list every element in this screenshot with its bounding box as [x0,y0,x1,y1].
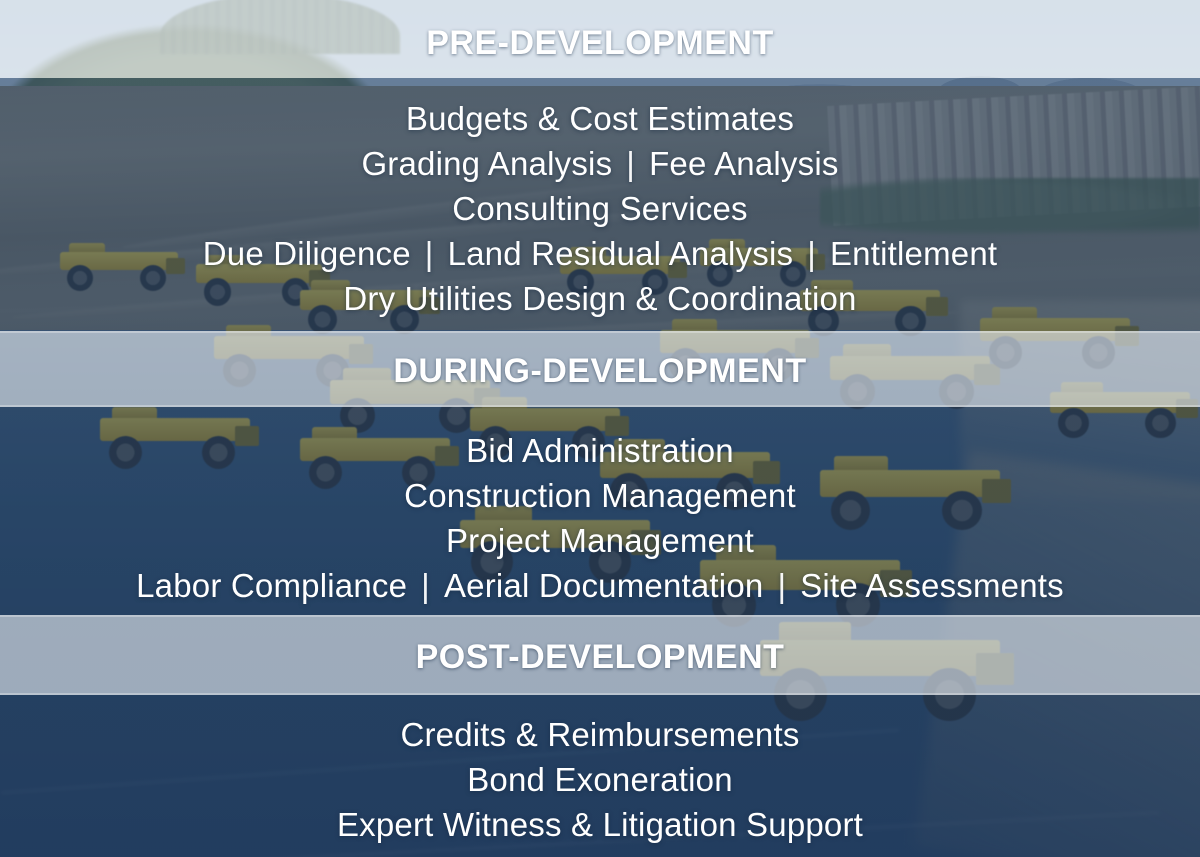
separator-icon: | [407,563,444,608]
service-item: Bid Administration [466,432,734,469]
poster-content: PRE-DEVELOPMENT Budgets & Cost Estimates… [0,0,1200,857]
service-line: Due Diligence|Land Residual Analysis|Ent… [0,231,1200,276]
service-line: Consulting Services [0,186,1200,231]
service-item: Dry Utilities Design & Coordination [343,280,856,317]
service-item: Project Management [446,522,754,559]
service-item: Labor Compliance [136,567,407,604]
service-item: Grading Analysis [361,145,612,182]
separator-icon: | [763,563,800,608]
section-heading-post-development: POST-DEVELOPMENT [0,638,1200,677]
service-item: Construction Management [404,477,796,514]
service-line: Grading Analysis|Fee Analysis [0,141,1200,186]
service-item: Entitlement [830,235,997,272]
service-item: Due Diligence [203,235,411,272]
separator-icon: | [793,231,830,276]
service-item: Aerial Documentation [444,567,764,604]
service-line: Construction Management [0,473,1200,518]
service-line: Labor Compliance|Aerial Documentation|Si… [0,563,1200,608]
section-heading-during-development: DURING-DEVELOPMENT [0,352,1200,391]
service-item: Consulting Services [452,190,747,227]
service-line: Budgets & Cost Estimates [0,96,1200,141]
service-item: Fee Analysis [649,145,839,182]
service-line: Expert Witness & Litigation Support [0,802,1200,847]
service-item: Budgets & Cost Estimates [406,100,794,137]
services-infographic: PRE-DEVELOPMENT Budgets & Cost Estimates… [0,0,1200,857]
service-list-pre-development: Budgets & Cost Estimates Grading Analysi… [0,96,1200,321]
service-item: Credits & Reimbursements [400,716,799,753]
service-item: Bond Exoneration [467,761,733,798]
service-line: Bid Administration [0,428,1200,473]
service-list-during-development: Bid Administration Construction Manageme… [0,428,1200,608]
service-line: Bond Exoneration [0,757,1200,802]
service-line: Project Management [0,518,1200,563]
service-line: Credits & Reimbursements [0,712,1200,757]
service-item: Land Residual Analysis [448,235,794,272]
section-heading-pre-development: PRE-DEVELOPMENT [0,24,1200,63]
service-line: Dry Utilities Design & Coordination [0,276,1200,321]
separator-icon: | [612,141,649,186]
service-item: Site Assessments [800,567,1064,604]
separator-icon: | [411,231,448,276]
service-list-post-development: Credits & Reimbursements Bond Exoneratio… [0,712,1200,847]
service-item: Expert Witness & Litigation Support [337,806,863,843]
